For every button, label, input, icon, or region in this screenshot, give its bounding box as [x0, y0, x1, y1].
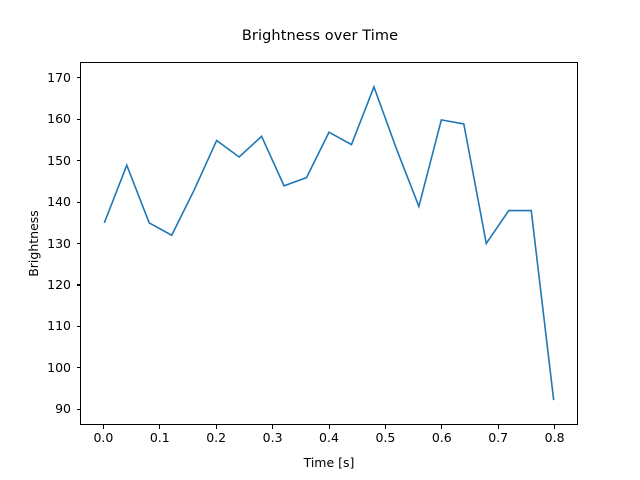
x-tick-label: 0.1	[140, 430, 180, 445]
x-tick-label: 0.8	[535, 430, 575, 445]
x-tick-mark	[441, 425, 442, 429]
x-tick-mark	[159, 425, 160, 429]
plot-area	[80, 62, 578, 425]
y-tick-label: 90	[31, 401, 71, 416]
chart-title: Brightness over Time	[0, 28, 640, 44]
data-series-svg	[81, 63, 577, 424]
x-axis-label: Time [s]	[80, 455, 578, 470]
brightness-line-series	[104, 87, 553, 400]
x-tick-label: 0.4	[309, 430, 349, 445]
x-tick-label: 0.7	[478, 430, 518, 445]
y-tick-label: 120	[31, 277, 71, 292]
y-tick-label: 140	[31, 194, 71, 209]
x-tick-mark	[498, 425, 499, 429]
x-tick-label: 0.3	[253, 430, 293, 445]
y-tick-label: 160	[31, 111, 71, 126]
x-tick-mark	[216, 425, 217, 429]
y-tick-label: 110	[31, 318, 71, 333]
y-tick-label: 150	[31, 153, 71, 168]
x-tick-mark	[554, 425, 555, 429]
x-tick-mark	[103, 425, 104, 429]
x-tick-mark	[385, 425, 386, 429]
x-tick-label: 0.2	[196, 430, 236, 445]
x-tick-label: 0.5	[365, 430, 405, 445]
x-tick-mark	[272, 425, 273, 429]
y-tick-label: 100	[31, 360, 71, 375]
chart-figure: Brightness over Time Brightness Time [s]…	[0, 0, 640, 480]
x-tick-label: 0.6	[422, 430, 462, 445]
x-tick-mark	[329, 425, 330, 429]
y-tick-label: 170	[31, 70, 71, 85]
y-tick-label: 130	[31, 236, 71, 251]
x-tick-label: 0.0	[83, 430, 123, 445]
